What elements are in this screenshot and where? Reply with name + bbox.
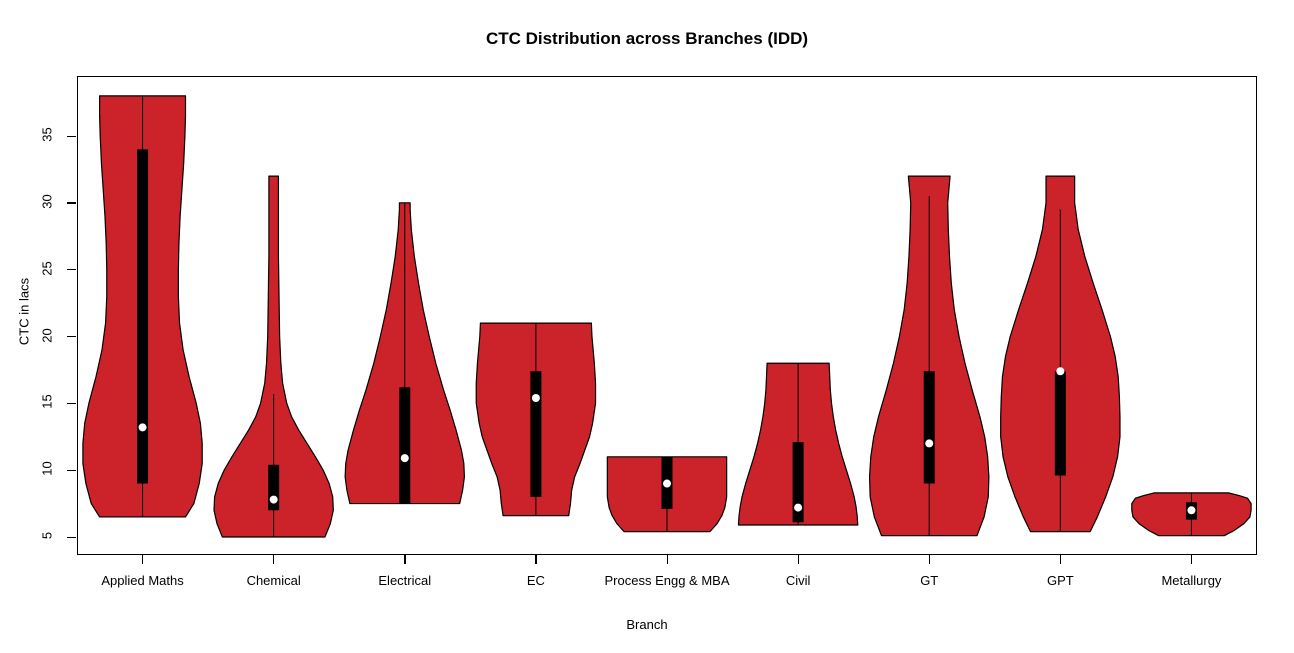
x-tick-mark bbox=[404, 555, 405, 564]
y-tick-mark bbox=[67, 336, 76, 337]
y-tick-label: 25 bbox=[40, 253, 55, 283]
x-tick-mark bbox=[1191, 555, 1192, 564]
x-tick-label-5: Civil bbox=[786, 573, 811, 588]
y-axis-label: CTC in lacs bbox=[17, 252, 32, 372]
violin-plot-figure: CTC Distribution across Branches (IDD) C… bbox=[0, 0, 1294, 653]
x-tick-mark bbox=[535, 555, 536, 564]
x-tick-label-0: Applied Maths bbox=[101, 573, 183, 588]
y-tick-mark bbox=[67, 202, 76, 203]
y-tick-label: 10 bbox=[40, 454, 55, 484]
y-tick-label: 20 bbox=[40, 320, 55, 350]
x-tick-mark bbox=[1060, 555, 1061, 564]
y-tick-mark bbox=[67, 403, 76, 404]
x-axis-label: Branch bbox=[0, 617, 1294, 632]
y-tick-label: 15 bbox=[40, 387, 55, 417]
x-tick-label-4: Process Engg & MBA bbox=[605, 573, 730, 588]
x-tick-label-8: Metallurgy bbox=[1161, 573, 1221, 588]
page-title: CTC Distribution across Branches (IDD) bbox=[0, 29, 1294, 49]
y-tick-mark bbox=[67, 136, 76, 137]
x-tick-mark bbox=[142, 555, 143, 564]
x-tick-label-7: GPT bbox=[1047, 573, 1074, 588]
x-tick-label-3: EC bbox=[527, 573, 545, 588]
x-tick-label-1: Chemical bbox=[247, 573, 301, 588]
y-tick-label: 30 bbox=[40, 186, 55, 216]
x-tick-mark bbox=[667, 555, 668, 564]
y-tick-label: 5 bbox=[40, 521, 55, 551]
x-tick-mark bbox=[273, 555, 274, 564]
x-tick-mark bbox=[929, 555, 930, 564]
x-tick-label-6: GT bbox=[920, 573, 938, 588]
y-tick-label: 35 bbox=[40, 120, 55, 150]
y-tick-mark bbox=[67, 269, 76, 270]
y-tick-mark bbox=[67, 470, 76, 471]
x-tick-mark bbox=[798, 555, 799, 564]
y-tick-mark bbox=[67, 537, 76, 538]
x-tick-label-2: Electrical bbox=[378, 573, 431, 588]
plot-panel bbox=[77, 76, 1257, 555]
